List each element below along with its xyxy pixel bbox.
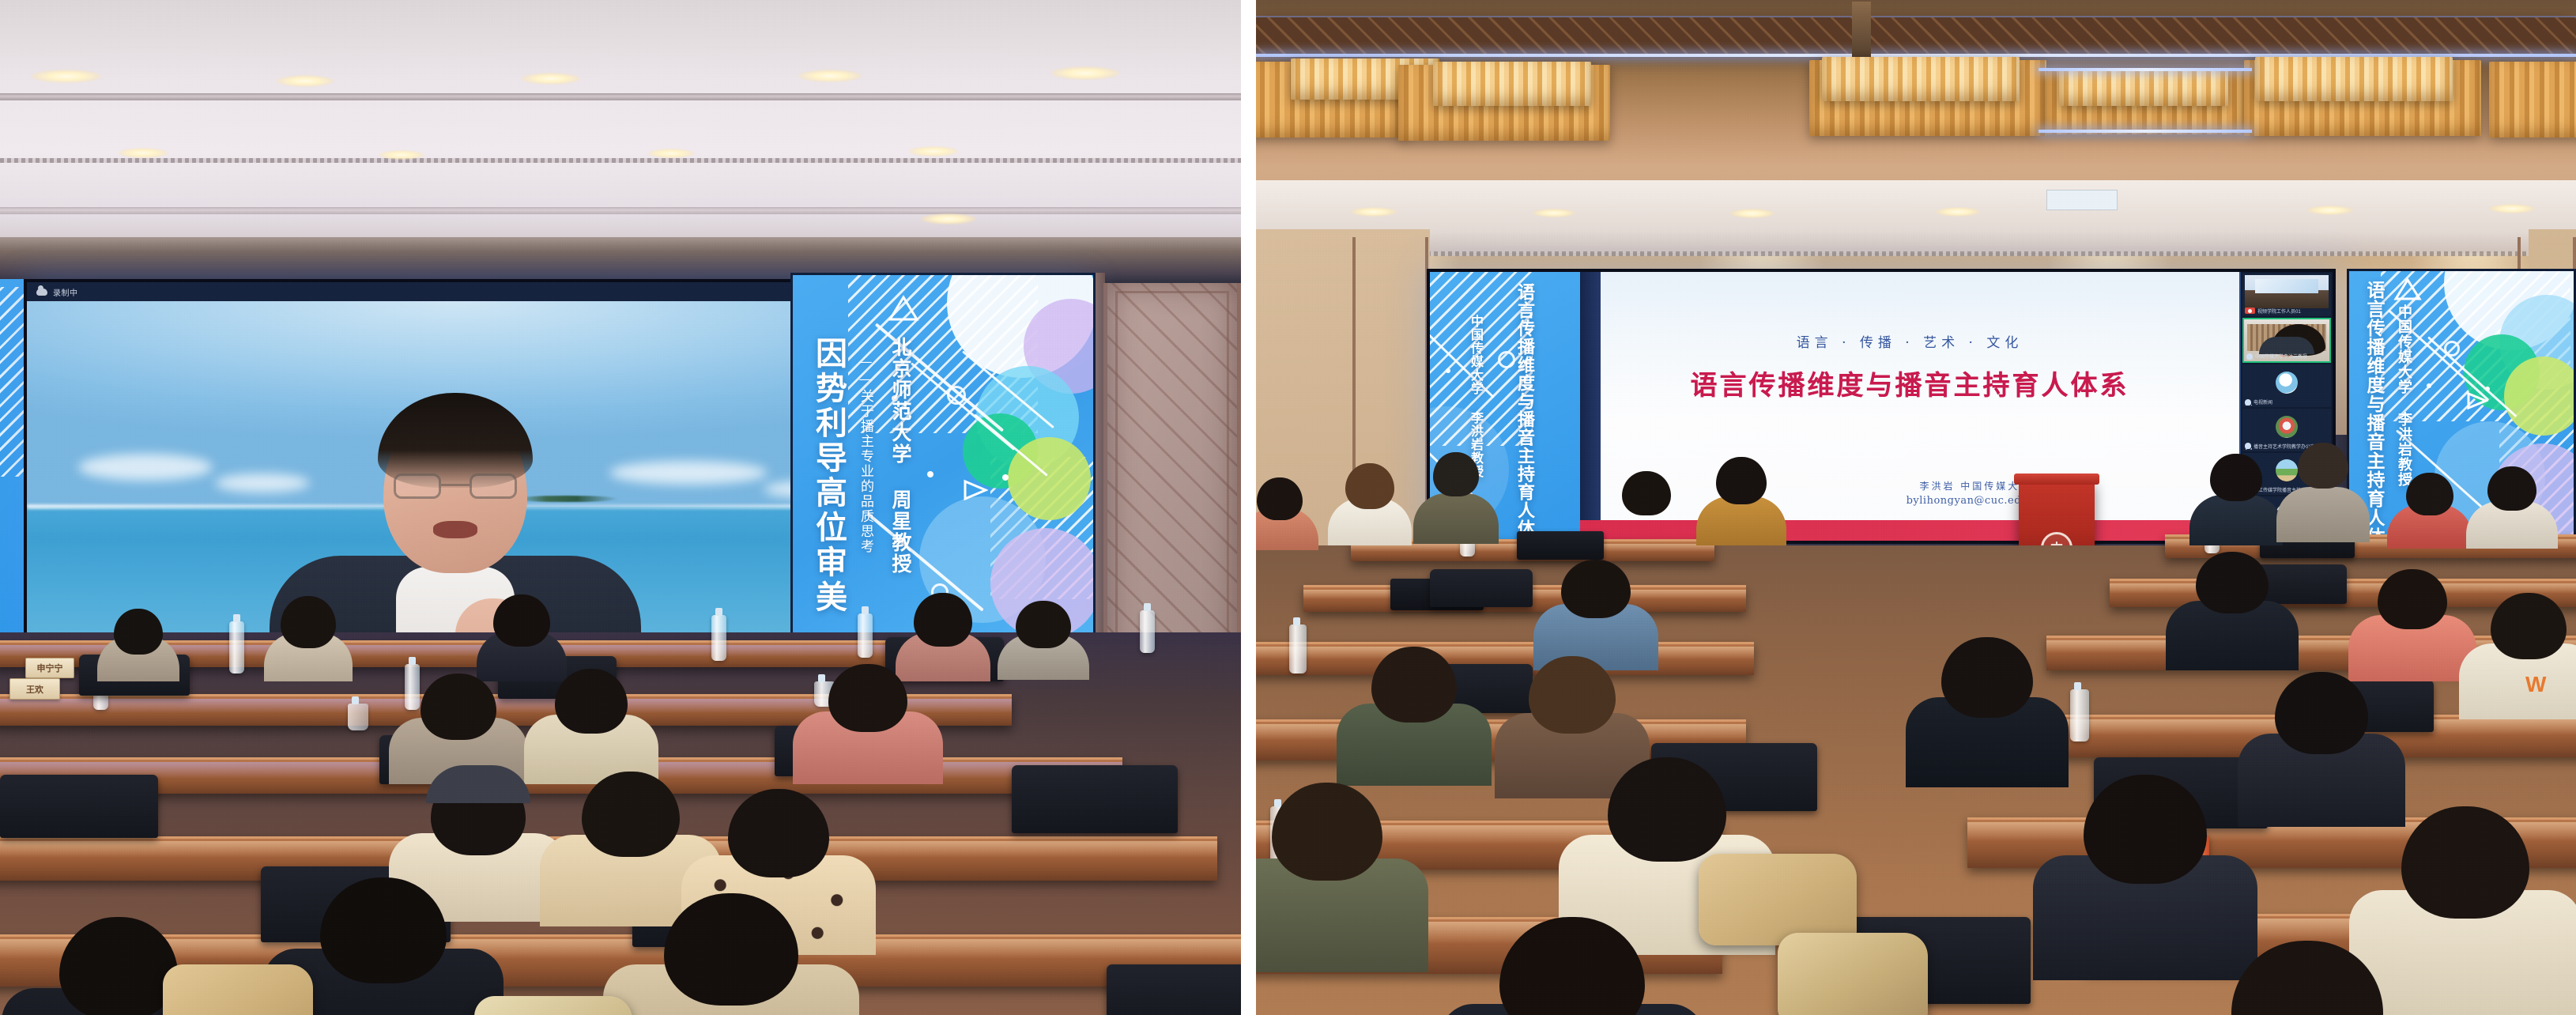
slide-left-edge <box>1580 272 1601 541</box>
diptych-divider <box>1241 0 1256 1015</box>
ceiling-wood-panel <box>1433 62 1591 106</box>
audience-member <box>1438 917 1707 1015</box>
slide-kicker: 语言 · 传播 · 艺术 · 文化 <box>1797 331 2023 351</box>
chair <box>0 775 158 838</box>
left-audience-hall: 申宁宁 王欢 <box>0 632 1241 1015</box>
chair <box>1430 569 1533 607</box>
audience-member <box>1412 452 1499 544</box>
tote-bag <box>474 996 632 1015</box>
audience-member <box>1602 471 1691 547</box>
left-ceiling <box>0 0 1241 277</box>
audience-member <box>2465 466 2559 549</box>
main-speaker-video <box>27 301 884 633</box>
slide-title: 语言传播维度与播音主持育人体系 <box>1691 364 2129 402</box>
audience-member <box>1327 463 1412 545</box>
audience-member <box>95 609 182 681</box>
water-bottle <box>2070 689 2089 741</box>
audience-member <box>1904 637 2070 787</box>
chair <box>1012 765 1178 833</box>
participant-tile[interactable]: 视频学院工作人员01 <box>2242 274 2331 316</box>
ceiling-light <box>648 149 694 158</box>
ceiling-vent <box>2046 190 2118 210</box>
water-bottle <box>229 621 244 674</box>
mic-icon <box>2245 443 2251 449</box>
ceiling-light <box>1730 209 1775 218</box>
ceiling-led-strip <box>2039 68 2252 71</box>
ceiling-led-strip <box>2039 130 2252 133</box>
cap-icon <box>426 765 530 803</box>
audience-member: W <box>2457 593 2576 719</box>
mic-icon <box>2245 399 2251 406</box>
audience-member <box>2189 454 2284 545</box>
ceiling-trim <box>1256 251 2576 256</box>
chair <box>1107 964 1241 1015</box>
audience-member <box>1533 560 1659 670</box>
audience-member <box>261 596 356 681</box>
ceiling-light <box>277 75 334 87</box>
audience-member <box>601 893 862 1015</box>
avatar <box>2276 416 2298 438</box>
poster-subtitle: ——关于播主专业的品质思考 <box>856 354 876 554</box>
audience-member <box>2165 941 2450 1015</box>
ceiling-wood-panel <box>2255 57 2453 101</box>
audience-member <box>1335 647 1493 786</box>
poster-title: 因势利导高位审美 <box>805 337 851 615</box>
right-audience-hall: W <box>1256 545 2576 1015</box>
audience-member <box>2276 443 2370 542</box>
mic-icon <box>2246 353 2253 360</box>
cloud-recording-icon <box>36 289 47 296</box>
ceiling-light <box>2489 204 2535 213</box>
name-placard: 申宁宁 <box>25 658 74 678</box>
ceiling-light <box>1936 207 1980 217</box>
poster-speaker: 中国传媒大学 李洪岩教授 <box>2393 304 2414 487</box>
participant-tile-active[interactable]: 中国传媒大学李洪岩教授 <box>2242 318 2331 364</box>
audience-member <box>996 601 1091 680</box>
audience-member <box>2386 473 2473 549</box>
ceiling-light <box>119 148 168 158</box>
tote-bag <box>163 964 313 1015</box>
ceiling-light <box>1351 207 1397 217</box>
audience-member <box>1256 477 1319 550</box>
audience-member <box>2236 672 2406 827</box>
audience-member <box>522 669 660 784</box>
tote-bag <box>1699 854 1857 945</box>
ceiling-light <box>921 213 976 225</box>
jacket-graphic-w: W <box>2525 672 2546 697</box>
participant-tile[interactable]: 电视新闻 <box>2242 364 2331 407</box>
audience-member <box>1256 783 1430 972</box>
water-bottle <box>711 615 726 661</box>
avatar <box>2276 372 2298 394</box>
paper-cup <box>348 704 368 730</box>
water-bottle <box>1289 624 1307 674</box>
laptop <box>1517 531 1604 560</box>
right-photograph: 语言传播维度与播音主持育人体系 中国传媒大学 李洪岩教授 语言 · 传播 · 艺… <box>1256 0 2576 1015</box>
ceiling-light <box>798 70 862 82</box>
glasses-icon <box>394 474 517 500</box>
ceiling-fret-beam <box>1256 17 2576 54</box>
participant-name: 电视新闻 <box>2254 398 2272 406</box>
water-bottle <box>858 613 873 658</box>
participant-name: 中国传媒大学李洪岩教授 <box>2255 353 2307 360</box>
left-photograph: 录制中 <box>0 0 1241 1015</box>
audience-member <box>1695 457 1787 545</box>
poster-title: 语言传播维度与播音主持育人体系 <box>1512 283 1537 541</box>
ceiling-wood-panel <box>2489 62 2576 138</box>
ceiling-wood-panel <box>1822 57 2020 101</box>
ceiling-wood-panel <box>2059 68 2228 106</box>
audience-member <box>790 664 945 784</box>
poster-speaker: 北京师范大学 周星教授 <box>886 337 915 575</box>
ceiling-soffit <box>1256 180 2576 253</box>
ceiling-light <box>2307 206 2353 215</box>
virtual-background-island <box>515 496 618 502</box>
host-icon <box>2245 308 2255 314</box>
photo-diptych: 录制中 <box>0 0 2576 1015</box>
ceiling-light <box>32 70 101 83</box>
ceiling-light <box>1533 209 1575 217</box>
tote-bag <box>1778 933 1928 1015</box>
water-bottle <box>1140 610 1155 653</box>
ceiling-light <box>909 146 958 157</box>
name-placard: 王欢 <box>9 678 60 700</box>
ceiling-light <box>379 150 424 160</box>
ceiling-light <box>522 73 580 85</box>
ceiling-light <box>1051 66 1119 80</box>
audience-member <box>2165 552 2299 670</box>
triangle-icon <box>888 295 915 317</box>
recording-label: 录制中 <box>53 286 78 298</box>
participant-name: 视频学院工作人员01 <box>2257 308 2301 315</box>
